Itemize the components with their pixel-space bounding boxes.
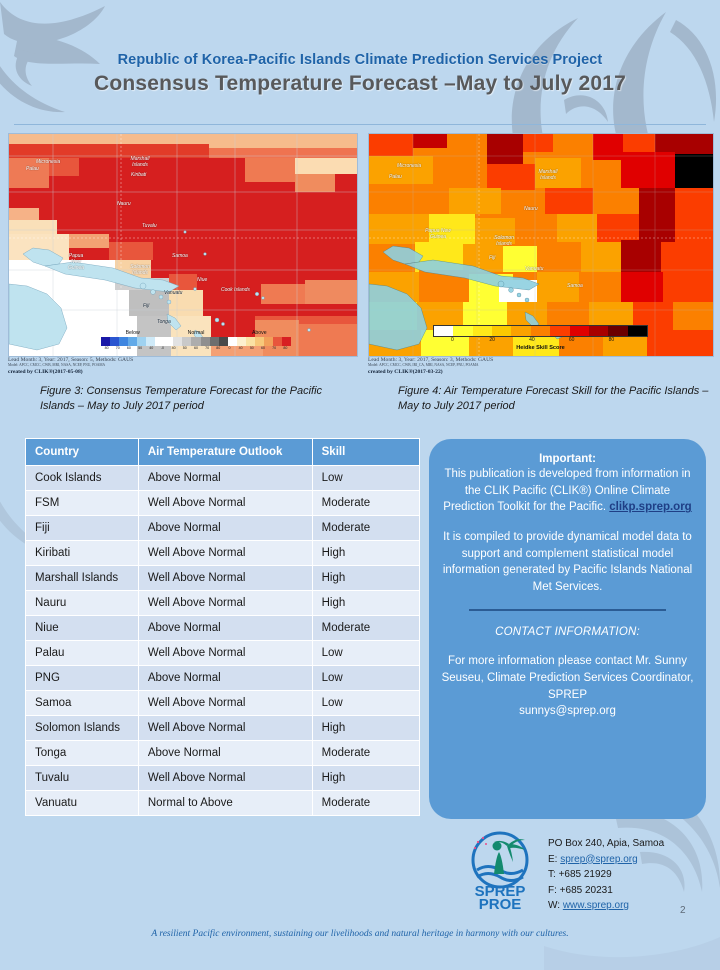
map-label-palau: Palau [26, 167, 39, 173]
consensus-temperature-map: Micronesia Palau Marshall Islands Kiriba… [9, 134, 357, 356]
legend-tick: 50 [179, 346, 190, 350]
table-row: NauruWell Above NormalHigh [26, 591, 420, 616]
map-label-samoa-skill: Samoa [567, 284, 583, 290]
table-row: Marshall IslandsWell Above NormalHigh [26, 566, 420, 591]
slide-header: Republic of Korea-Pacific Islands Climat… [0, 52, 720, 96]
figure-4-caption: Figure 4: Air Temperature Forecast Skill… [398, 384, 710, 414]
legend-swatch [119, 337, 128, 346]
cell-country: Niue [26, 616, 139, 641]
cell-skill: High [312, 566, 419, 591]
cell-outlook: Normal to Above [138, 791, 312, 816]
cell-skill: Low [312, 466, 419, 491]
legend-categories: Below Normal Above [101, 330, 291, 336]
legend-swatch [128, 337, 137, 346]
legend-tick: 60 [190, 346, 201, 350]
map-label-papua-new-guinea: Papua New Guinea [64, 254, 88, 271]
table-row: PalauWell Above NormalLow [26, 641, 420, 666]
figure-4-panel: Micronesia Palau Marshall Islands Nauru … [368, 133, 714, 357]
heidke-swatch [473, 326, 492, 336]
map-label-vanuatu: Vanuatu [164, 291, 182, 297]
figure-4-meta-line3: created by CLIK®(2017-03-22) [368, 369, 493, 375]
cell-country: Tonga [26, 741, 139, 766]
legend-swatch [237, 337, 246, 346]
cell-country: Vanuatu [26, 791, 139, 816]
figure-4-legend: 020406080 Heidke Skill Score [433, 325, 648, 351]
cell-outlook: Well Above Normal [138, 641, 312, 666]
map-label-niue: Niue [197, 278, 207, 284]
footer-tagline: A resilient Pacific environment, sustain… [0, 929, 720, 939]
heidke-tick: 60 [569, 337, 575, 343]
legend-tick-labels: 8070605040-0405060708004050607080 [101, 346, 291, 350]
cell-country: Samoa [26, 691, 139, 716]
map-label-marshall-islands: Marshall Islands [127, 157, 153, 169]
heidke-tick: 0 [451, 337, 454, 343]
cell-country: Solomon Islands [26, 716, 139, 741]
legend-swatch [228, 337, 237, 346]
map-label-cook-islands: Cook Islands [221, 288, 250, 294]
cell-outlook: Above Normal [138, 466, 312, 491]
figure-3-panel: Micronesia Palau Marshall Islands Kiriba… [8, 133, 358, 357]
sprep-logo-name-bottom: PROE [479, 896, 522, 910]
cell-country: Marshall Islands [26, 566, 139, 591]
map-label-fiji-skill: Fiji [489, 256, 495, 262]
map-label-samoa: Samoa [172, 254, 188, 260]
figure-4-meta-line2: Model: APCC, CMCC, CWB, IRI_CA, MRI, NAS… [368, 363, 493, 367]
clikp-link[interactable]: clikp.sprep.org [609, 501, 691, 513]
heidke-legend-title: Heidke Skill Score [433, 345, 648, 351]
email-label: E: [548, 854, 557, 865]
cell-country: Palau [26, 641, 139, 666]
cell-outlook: Well Above Normal [138, 691, 312, 716]
heidke-tick: 20 [489, 337, 495, 343]
legend-tick: 80 [213, 346, 224, 350]
legend-tick: 50 [135, 346, 146, 350]
legend-tick: 40 [146, 346, 157, 350]
panel-paragraph-1: This publication is developed from infor… [441, 466, 694, 516]
cell-skill: Low [312, 666, 419, 691]
map-label-fiji: Fiji [143, 304, 149, 310]
legend-tick: 60 [257, 346, 268, 350]
header-divider [14, 124, 706, 125]
heidke-swatch [628, 326, 647, 336]
cell-skill: High [312, 541, 419, 566]
legend-swatch [264, 337, 273, 346]
legend-tick: 40 [168, 346, 179, 350]
legend-tick: 70 [202, 346, 213, 350]
cell-skill: High [312, 766, 419, 791]
legend-tick: 70 [269, 346, 280, 350]
map-raster-figure3 [9, 134, 357, 356]
table-row: KiribatiWell Above NormalHigh [26, 541, 420, 566]
figure-4-meta: Lead Month: 3, Year: 2017, Season: 3, Me… [368, 357, 493, 375]
table-row: FSMWell Above NormalModerate [26, 491, 420, 516]
legend-swatch [137, 337, 146, 346]
heidke-swatch [570, 326, 589, 336]
address-block: PO Box 240, Apia, Samoa E: sprep@sprep.o… [548, 836, 664, 914]
phone-label: T: [548, 869, 556, 880]
legend-swatch [191, 337, 200, 346]
slide-page: Republic of Korea-Pacific Islands Climat… [0, 0, 720, 960]
heidke-tick: 40 [529, 337, 535, 343]
skill-score-map: Micronesia Palau Marshall Islands Nauru … [369, 134, 713, 356]
heidke-swatch [511, 326, 530, 336]
cell-country: FSM [26, 491, 139, 516]
legend-tick: -0 [157, 346, 168, 350]
important-label: Important: [441, 453, 694, 465]
legend-cat-above: Above [228, 330, 291, 336]
figure-3-caption: Figure 3: Consensus Temperature Forecast… [40, 384, 350, 414]
legend-swatch [282, 337, 291, 346]
column-header-country: Country [26, 439, 139, 466]
legend-tick: 80 [280, 346, 291, 350]
map-label-micronesia-skill: Micronesia [397, 164, 421, 170]
figure-3-meta: Lead Month: 3, Year: 2017, Season: 5, Me… [8, 357, 133, 375]
table-row: VanuatuNormal to AboveModerate [26, 791, 420, 816]
cell-skill: Low [312, 691, 419, 716]
cell-skill: Moderate [312, 741, 419, 766]
map-label-micronesia: Micronesia [36, 160, 60, 166]
map-label-tuvalu: Tuvalu [142, 224, 157, 230]
legend-tick: 80 [101, 346, 112, 350]
table-row: Solomon IslandsWell Above NormalHigh [26, 716, 420, 741]
legend-swatch [182, 337, 191, 346]
column-header-outlook: Air Temperature Outlook [138, 439, 312, 466]
cell-skill: High [312, 716, 419, 741]
cell-skill: Moderate [312, 516, 419, 541]
heidke-tick-labels: 020406080 [433, 337, 648, 345]
table-row: PNGAbove NormalLow [26, 666, 420, 691]
contact-heading: CONTACT INFORMATION: [441, 624, 694, 641]
figure-3-meta-line3: created by CLIK®(2017-05-08) [8, 369, 133, 375]
map-label-solomon-islands: Solomon Islands [129, 265, 151, 277]
page-title: Consensus Temperature Forecast –May to J… [0, 72, 720, 96]
map-label-marshall-islands-skill: Marshall Islands [535, 170, 561, 182]
cell-outlook: Above Normal [138, 741, 312, 766]
panel-divider [469, 609, 666, 611]
heidke-swatch [531, 326, 550, 336]
heidke-colorbar [433, 325, 648, 337]
map-label-nauru: Nauru [117, 202, 131, 208]
table-row: Cook IslandsAbove NormalLow [26, 466, 420, 491]
legend-colorbar [101, 337, 291, 346]
map-label-nauru-skill: Nauru [524, 207, 538, 213]
legend-tick: 40 [235, 346, 246, 350]
legend-swatch [164, 337, 173, 346]
legend-swatch [273, 337, 282, 346]
address-phone-row: T: +685 21929 [548, 867, 664, 883]
table-row: TuvaluWell Above NormalHigh [26, 766, 420, 791]
cell-country: PNG [26, 666, 139, 691]
website-link[interactable]: www.sprep.org [563, 900, 629, 911]
figure-3-legend: Below Normal Above 8070605040-0405060708… [101, 330, 291, 351]
legend-tick: 50 [246, 346, 257, 350]
legend-swatch [219, 337, 228, 346]
web-label: W: [548, 900, 560, 911]
email-link[interactable]: sprep@sprep.org [560, 854, 637, 865]
table-row: FijiAbove NormalModerate [26, 516, 420, 541]
cell-outlook: Well Above Normal [138, 591, 312, 616]
cell-country: Nauru [26, 591, 139, 616]
forecast-table: Country Air Temperature Outlook Skill Co… [25, 438, 420, 816]
fax-label: F: [548, 885, 557, 896]
map-label-solomon-skill: Solomon Islands [493, 236, 515, 248]
cell-country: Kiribati [26, 541, 139, 566]
address-fax-row: F: +685 20231 [548, 883, 664, 899]
table-row: SamoaWell Above NormalLow [26, 691, 420, 716]
panel-paragraph-2: It is compiled to provide dynamical mode… [441, 529, 694, 596]
address-line1: PO Box 240, Apia, Samoa [548, 836, 664, 852]
table-row: NiueAbove NormalModerate [26, 616, 420, 641]
heidke-tick: 80 [609, 337, 615, 343]
cell-outlook: Well Above Normal [138, 766, 312, 791]
cell-outlook: Well Above Normal [138, 541, 312, 566]
contact-body: For more information please contact Mr. … [441, 653, 694, 703]
heidke-swatch [589, 326, 608, 336]
cell-skill: Low [312, 641, 419, 666]
cell-skill: Moderate [312, 791, 419, 816]
cell-country: Fiji [26, 516, 139, 541]
map-label-palau-skill: Palau [389, 175, 402, 181]
legend-swatch [173, 337, 182, 346]
heidke-swatch [550, 326, 569, 336]
legend-tick: 70 [112, 346, 123, 350]
sprep-logo-icon: SPREP PROE [464, 830, 536, 910]
legend-tick: 0 [224, 346, 235, 350]
cell-outlook: Well Above Normal [138, 491, 312, 516]
legend-swatch [210, 337, 219, 346]
map-label-png-skill: Papua New Guinea [425, 229, 451, 241]
map-label-tonga: Tonga [157, 320, 171, 326]
legend-swatch [155, 337, 164, 346]
table-row: TongaAbove NormalModerate [26, 741, 420, 766]
legend-cat-below: Below [101, 330, 164, 336]
legend-tick: 60 [123, 346, 134, 350]
legend-swatch [101, 337, 110, 346]
page-number: 2 [680, 905, 686, 916]
cell-outlook: Above Normal [138, 516, 312, 541]
fax-value: +685 20231 [560, 885, 613, 896]
cell-skill: Moderate [312, 616, 419, 641]
heidke-swatch [434, 326, 453, 336]
heidke-swatch [453, 326, 472, 336]
cell-skill: High [312, 591, 419, 616]
map-label-kiribati: Kiribati [131, 173, 146, 179]
important-info-panel: Important: This publication is developed… [429, 439, 706, 819]
project-title: Republic of Korea-Pacific Islands Climat… [0, 52, 720, 68]
cell-country: Tuvalu [26, 766, 139, 791]
phone-value: +685 21929 [559, 869, 612, 880]
cell-skill: Moderate [312, 491, 419, 516]
cell-country: Cook Islands [26, 466, 139, 491]
contact-email: sunnys@sprep.org [441, 703, 694, 720]
legend-swatch [246, 337, 255, 346]
cell-outlook: Well Above Normal [138, 716, 312, 741]
address-email-row: E: sprep@sprep.org [548, 852, 664, 868]
legend-swatch [201, 337, 210, 346]
cell-outlook: Above Normal [138, 616, 312, 641]
cell-outlook: Well Above Normal [138, 566, 312, 591]
map-label-vanuatu-skill: Vanuatu [525, 267, 543, 273]
table-header-row: Country Air Temperature Outlook Skill [26, 439, 420, 466]
cell-outlook: Above Normal [138, 666, 312, 691]
figure-3-meta-line2: Model: APCC, CMCC, CWB, MRI, NASA, NCEP,… [8, 363, 133, 367]
legend-swatch [255, 337, 264, 346]
legend-swatch [110, 337, 119, 346]
legend-cat-normal: Normal [164, 330, 227, 336]
address-web-row: W: www.sprep.org [548, 898, 664, 914]
legend-swatch [146, 337, 155, 346]
heidke-swatch [492, 326, 511, 336]
heidke-swatch [608, 326, 627, 336]
sprep-logo: SPREP PROE [464, 830, 536, 910]
column-header-skill: Skill [312, 439, 419, 466]
